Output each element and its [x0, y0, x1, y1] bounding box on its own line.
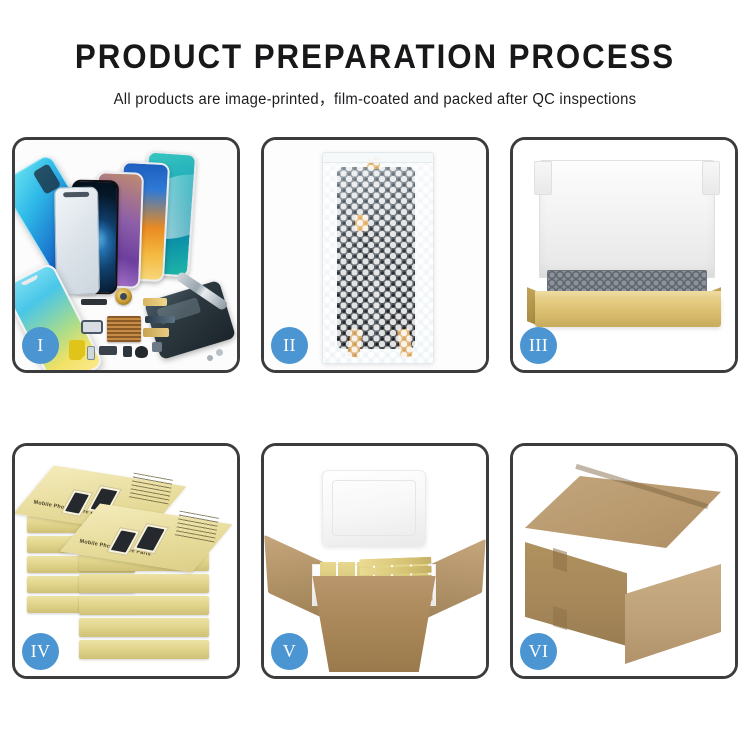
- copper-grid-part: [107, 316, 141, 342]
- bubble-wrap-bag: [322, 152, 434, 364]
- screw-part-1: [216, 349, 223, 356]
- vibration-motor-part: [115, 288, 132, 305]
- camera-module-part: [81, 320, 103, 334]
- step-badge-1: I: [22, 327, 59, 364]
- earpiece-speaker-part: [81, 299, 107, 305]
- page-subtitle: All products are image-printed，film-coat…: [11, 87, 739, 109]
- screw-part-2: [207, 355, 213, 361]
- carton-tape-1: [553, 548, 567, 572]
- step-badge-2: II: [271, 327, 308, 364]
- styrofoam-lid: [322, 470, 426, 546]
- carton-tape-2: [553, 606, 567, 630]
- connector-part: [87, 346, 95, 360]
- stacked-box-right-4: [79, 618, 209, 637]
- step-panel-4: Mobile Phone Spare Parts Mobile Phone Sp…: [12, 443, 240, 679]
- process-steps-grid: I II III: [12, 137, 738, 679]
- stacked-box-right-3: [79, 596, 209, 615]
- stacked-box-right-5: [79, 640, 209, 659]
- stacked-box-right-2: [79, 574, 209, 593]
- sim-tray-part: [69, 340, 85, 360]
- foam-sheet-lid: [539, 160, 715, 278]
- chip-part-2: [123, 346, 132, 357]
- step-panel-3: III: [510, 137, 738, 373]
- step-badge-6: VI: [520, 633, 557, 670]
- step-badge-4: IV: [22, 633, 59, 670]
- step-badge-3: III: [520, 327, 557, 364]
- bubble-texture: [323, 153, 433, 363]
- step-panel-1: I: [12, 137, 240, 373]
- box-stack: Mobile Phone Spare Parts Mobile Phone Sp…: [19, 460, 231, 664]
- chip-part-4: [152, 342, 162, 352]
- step-badge-5: V: [271, 633, 308, 670]
- bag-seal-strip: [323, 153, 433, 163]
- flex-cable-part-2: [145, 316, 175, 323]
- flex-cable-part-3: [143, 328, 169, 337]
- flex-cable-part-1: [143, 298, 167, 306]
- step-panel-5: V: [261, 443, 489, 679]
- page-header: PRODUCT PREPARATION PROCESS All products…: [0, 0, 750, 109]
- kraft-box-front: [535, 297, 721, 327]
- page-title: PRODUCT PREPARATION PROCESS: [30, 40, 720, 76]
- chip-part-1: [99, 346, 117, 355]
- step-panel-2: II: [261, 137, 489, 373]
- step-panel-6: VI: [510, 443, 738, 679]
- chip-part-3: [135, 346, 148, 358]
